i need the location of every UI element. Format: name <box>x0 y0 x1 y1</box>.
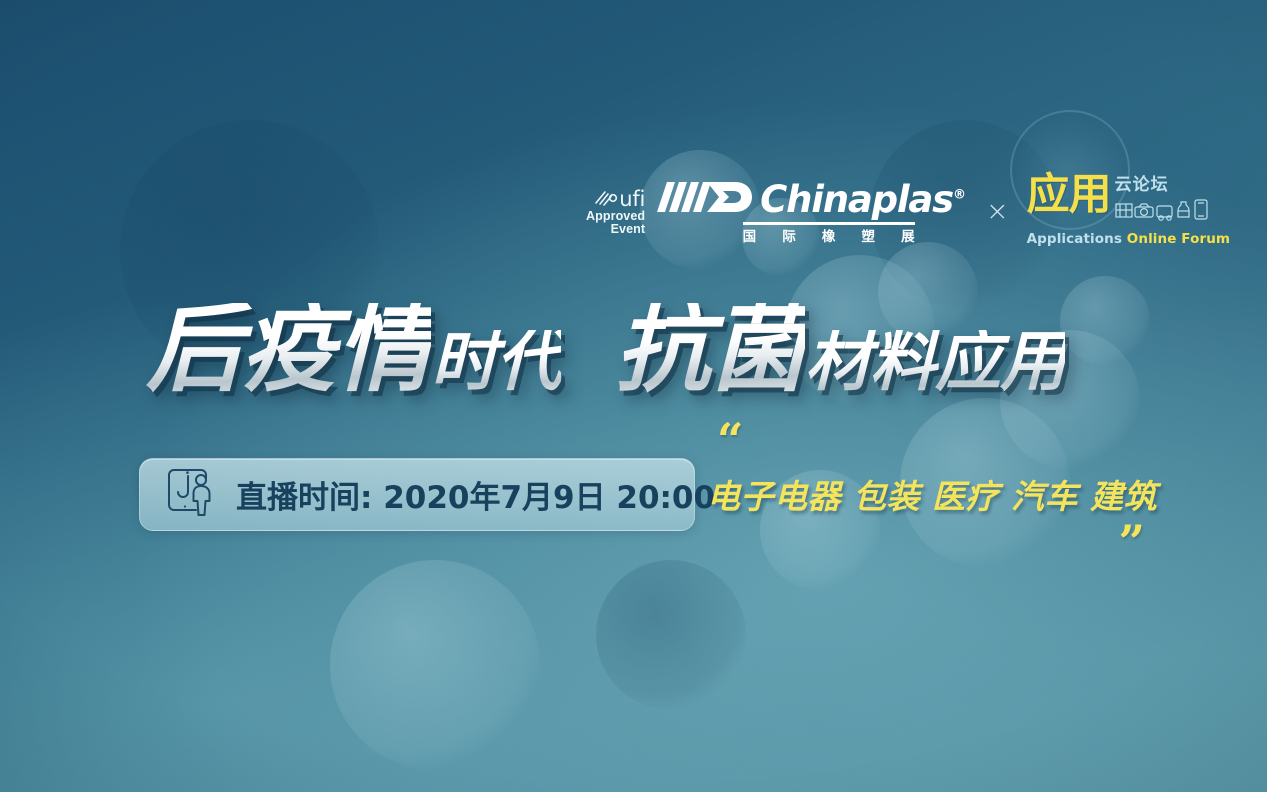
industry-line-art-icon <box>1115 194 1211 227</box>
chinaplas-logo: Chinaplas® 国 际 橡 塑 展 <box>657 178 966 245</box>
cn-char: 展 <box>901 225 915 245</box>
aof-english-part1: Applications <box>1027 231 1122 247</box>
broadcast-time-chip: 直播时间: 2020年7月9日 20:00 <box>139 458 695 531</box>
bokeh-circle <box>596 560 746 710</box>
applications-online-forum-logo: 应用 云论坛 <box>1027 176 1230 247</box>
ufi-approved-label: Approved <box>586 210 645 223</box>
quote-close-mark: ” <box>707 530 1143 558</box>
page-title: 后疫情 时代 抗菌 材料应用 <box>146 303 1065 395</box>
aof-chinese-sub: 云论坛 <box>1115 177 1211 194</box>
cn-char: 塑 <box>861 225 875 245</box>
chinaplas-chinese-name: 国 际 橡 塑 展 <box>743 225 915 245</box>
logo-separator-x: × <box>986 196 1009 227</box>
aof-english-title: Applications Online Forum <box>1027 231 1230 247</box>
poster-canvas: ufi Approved Event <box>0 0 1267 792</box>
ufi-swoosh-icon <box>594 188 618 210</box>
ufi-event-label: Event <box>611 223 646 236</box>
logo-bar: ufi Approved Event <box>586 176 1230 247</box>
application-fields-text: 电子电器 包装 医疗 汽车 建筑 <box>707 470 1157 518</box>
title-segment-2: 抗菌 材料应用 <box>615 303 1065 395</box>
cn-char: 橡 <box>822 225 836 245</box>
presentation-speaker-icon <box>166 467 218 522</box>
aof-chinese-main: 应用 <box>1027 176 1111 216</box>
cn-char: 际 <box>782 225 796 245</box>
aof-english-part2: Online Forum <box>1127 231 1230 247</box>
registered-mark: ® <box>953 188 966 203</box>
title-part1-large: 后疫情 <box>146 303 431 395</box>
broadcast-time-text: 直播时间: 2020年7月9日 20:00 <box>236 472 715 517</box>
bokeh-circle <box>1060 276 1150 366</box>
title-segment-1: 后疫情 时代 <box>146 303 561 395</box>
title-part2-small: 材料应用 <box>805 330 1065 395</box>
quote-open-mark: “ <box>717 428 1157 454</box>
cn-char: 国 <box>743 225 757 245</box>
title-part1-small: 时代 <box>431 330 561 395</box>
application-fields-quote: “ 电子电器 包装 医疗 汽车 建筑 ” <box>707 428 1157 558</box>
chinaplas-wordmark: Chinaplas® <box>760 181 966 218</box>
ufi-logo: ufi Approved Event <box>586 188 645 236</box>
chinaplas-arrow-d-icon <box>657 178 753 221</box>
ufi-wordmark: ufi <box>619 189 645 210</box>
bokeh-circle <box>330 560 540 770</box>
title-part2-large: 抗菌 <box>615 303 805 395</box>
